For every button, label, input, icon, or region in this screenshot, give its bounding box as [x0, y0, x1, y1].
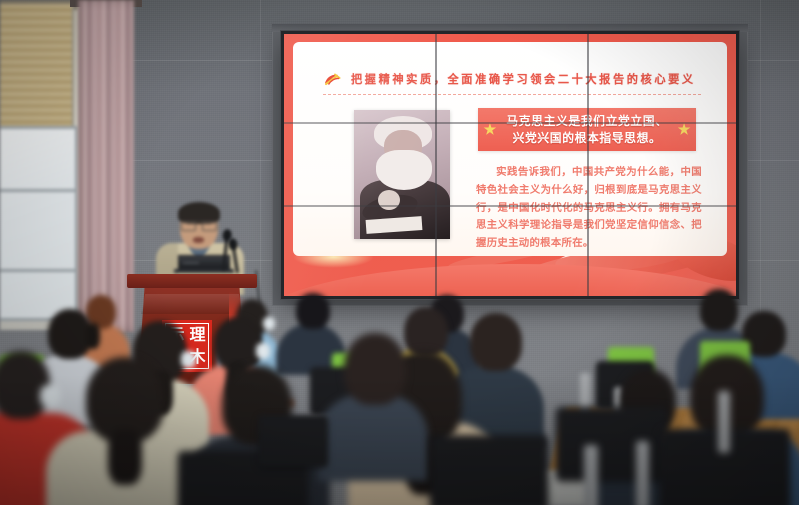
star-icon [483, 123, 496, 136]
foreground-shadow [0, 375, 799, 505]
banner-line-1: 马克思主义是我们立党立国、 [506, 114, 667, 128]
slide-highlight-banner: 马克思主义是我们立党立国、 兴党兴国的根本指导思想。 [478, 108, 696, 151]
slide-content-card: 把握精神实质，全面准确学习领会二十大报告的核心要义 [293, 42, 727, 256]
video-wall[interactable]: 把握精神实质，全面准确学习领会二十大报告的核心要义 [281, 31, 739, 299]
slide-title: 把握精神实质，全面准确学习领会二十大报告的核心要义 [351, 71, 696, 87]
slide-body-text: 实践告诉我们，中国共产党为什么能，中国特色社会主义为什么好，归根到底是马克思主义… [476, 166, 702, 249]
window [0, 0, 90, 330]
window-glass [0, 126, 78, 321]
banner-text: 马克思主义是我们立党立国、 兴党兴国的根本指导思想。 [506, 113, 667, 147]
curtain [78, 0, 134, 332]
star-icon [678, 123, 691, 136]
marx-portrait [354, 110, 450, 239]
lecture-hall-photo: 把握精神实质，全面准确学习领会二十大报告的核心要义 [0, 0, 799, 505]
slide-title-divider [323, 94, 701, 95]
wall-seam [260, 0, 261, 320]
banner-line-2: 兴党兴国的根本指导思想。 [513, 131, 662, 145]
slide-screen: 把握精神实质，全面准确学习领会二十大报告的核心要义 [284, 34, 736, 296]
slide-title-row: 把握精神实质，全面准确学习领会二十大报告的核心要义 [323, 65, 701, 93]
window-blinds-icon [0, 4, 74, 126]
party-hammer-sickle-icon [323, 72, 342, 87]
wall-seam [760, 0, 761, 320]
eyeglasses-icon [181, 221, 217, 228]
slide-body-paragraph: 实践告诉我们，中国共产党为什么能，中国特色社会主义为什么好，归根到底是马克思主义… [476, 164, 702, 253]
